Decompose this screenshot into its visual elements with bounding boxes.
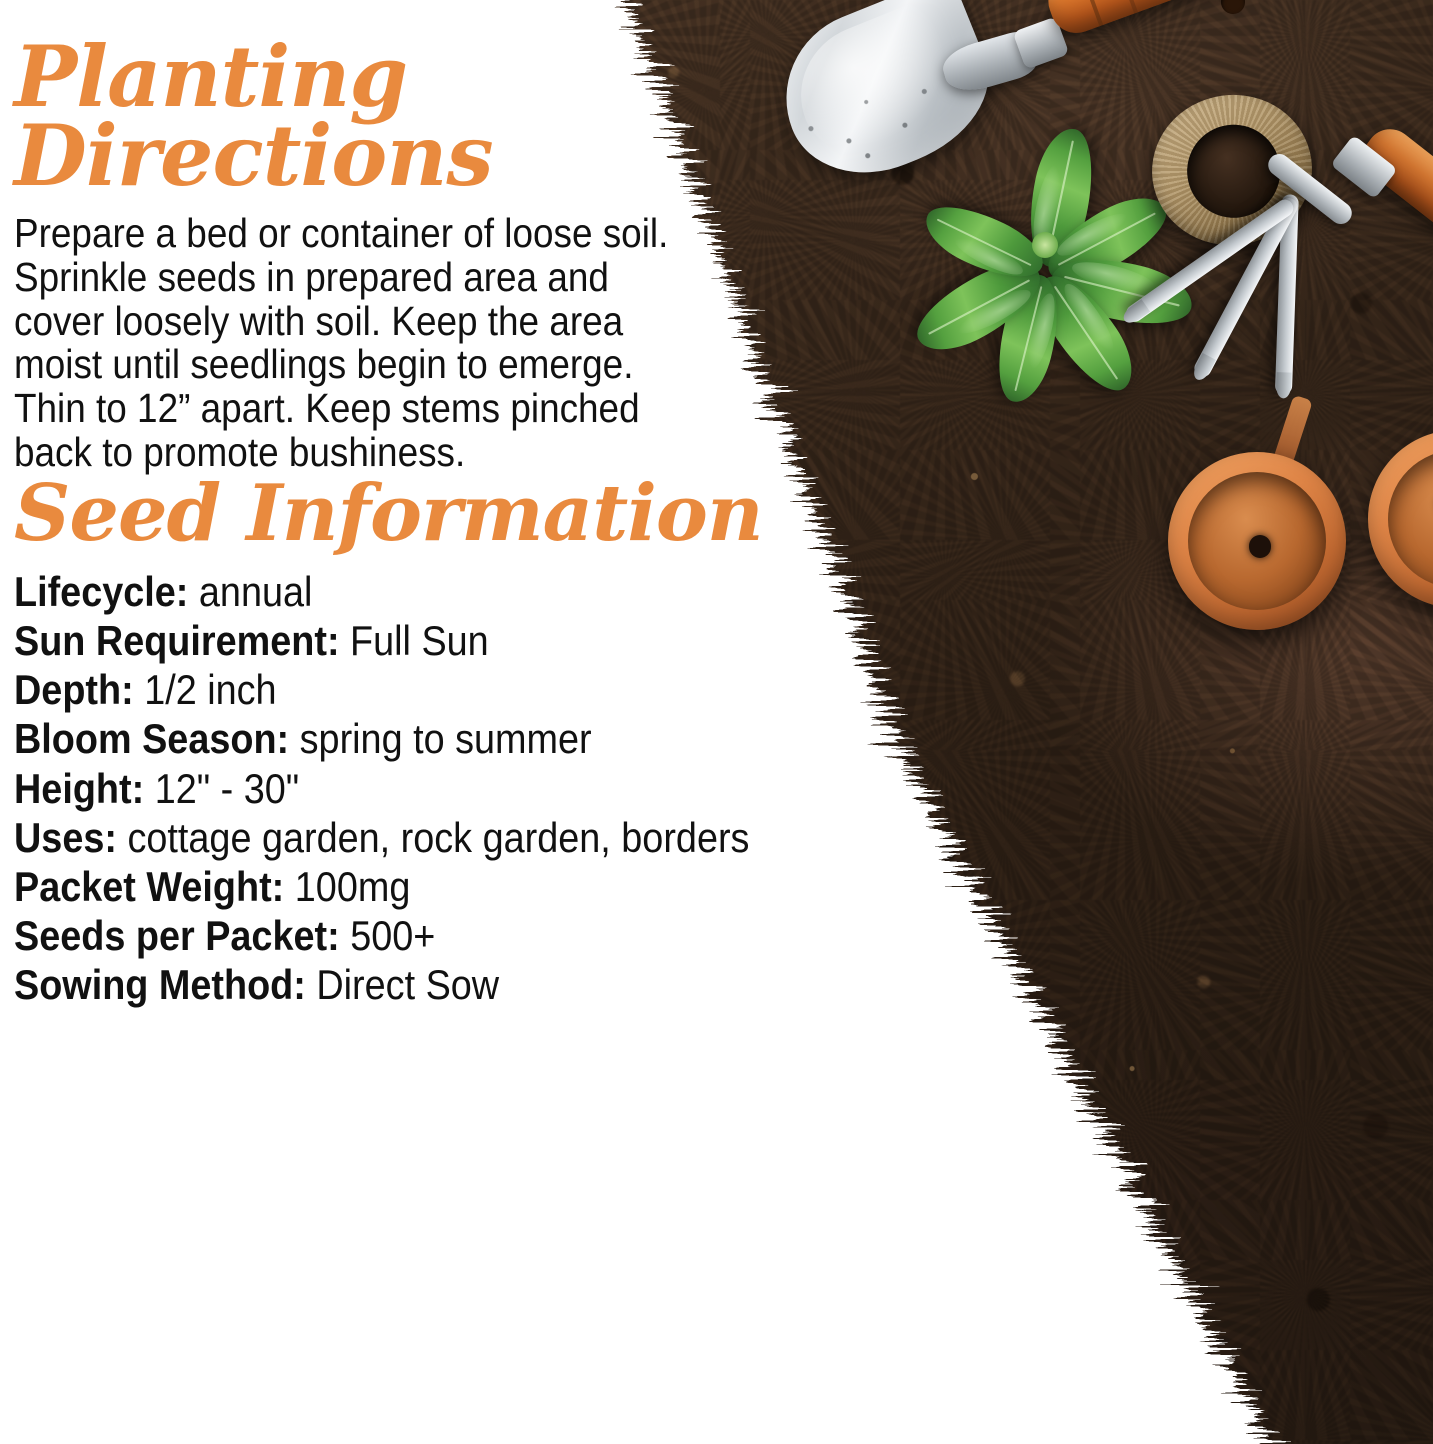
seed-info-label: Lifecycle: xyxy=(14,568,188,615)
green-seedling xyxy=(900,110,1190,380)
seed-info-label: Sowing Method: xyxy=(14,961,306,1008)
hand-cultivator xyxy=(1140,150,1433,480)
seed-info-row: Packet Weight: 100mg xyxy=(14,862,811,911)
leaf xyxy=(1036,184,1178,294)
seed-info-value: 12" - 30" xyxy=(155,765,300,812)
leaf xyxy=(1018,123,1103,272)
trowel-handle-hole xyxy=(1218,0,1249,17)
terracotta-pot-interior xyxy=(1188,472,1327,611)
seed-info-label: Height: xyxy=(14,765,144,812)
planting-directions-heading: Planting Directions xyxy=(14,38,574,196)
seed-info-value: 500+ xyxy=(350,912,435,959)
seed-info-row: Bloom Season: spring to summer xyxy=(14,714,811,763)
cultivator-tine xyxy=(1275,194,1299,394)
seed-info-label: Bloom Season: xyxy=(14,715,289,762)
seed-info-value: Full Sun xyxy=(350,617,489,664)
seed-info-row: Height: 12" - 30" xyxy=(14,764,811,813)
seedling-crown xyxy=(1032,232,1058,258)
peat-pot xyxy=(1142,85,1321,256)
seed-info-label: Depth: xyxy=(14,666,134,713)
seed-info-label: Packet Weight: xyxy=(14,863,284,910)
peat-pot-opening xyxy=(1181,119,1286,224)
trowel-wooden-handle xyxy=(1041,0,1277,40)
seed-info-value: 100mg xyxy=(295,863,411,910)
seed-info-row: Depth: 1/2 inch xyxy=(14,665,811,714)
seed-info-row: Uses: cottage garden, rock garden, borde… xyxy=(14,813,811,862)
leaf xyxy=(917,192,1052,293)
cultivator-ferrule xyxy=(1330,135,1398,199)
seed-information-heading: Seed Information xyxy=(14,475,900,553)
leaf xyxy=(1026,262,1147,404)
seed-info-value: 1/2 inch xyxy=(144,666,276,713)
planting-directions-body: Prepare a bed or container of loose soil… xyxy=(14,212,671,475)
seed-info-value: Direct Sow xyxy=(316,961,499,1008)
terracotta-pot-interior xyxy=(1388,450,1433,589)
cultivator-shaft xyxy=(1264,150,1356,229)
leaf xyxy=(905,250,1053,364)
seed-info-value: annual xyxy=(199,568,313,615)
seed-information-list: Lifecycle: annual Sun Requirement: Full … xyxy=(14,567,900,1009)
seed-info-row: Sowing Method: Direct Sow xyxy=(14,960,811,1009)
text-column: Planting Directions Prepare a bed or con… xyxy=(0,0,900,1009)
seed-info-row: Sun Requirement: Full Sun xyxy=(14,616,811,665)
leaf xyxy=(1046,246,1198,337)
seed-info-label: Seeds per Packet: xyxy=(14,912,340,959)
trowel-ferrule xyxy=(1013,16,1070,69)
seed-info-value: spring to summer xyxy=(300,715,592,762)
cultivator-wooden-handle xyxy=(1354,120,1433,290)
peat-pot-rim xyxy=(1142,85,1321,256)
wooden-stick xyxy=(1271,395,1313,472)
seed-info-value: cottage garden, rock garden, borders xyxy=(127,814,749,861)
seed-info-row: Seeds per Packet: 500+ xyxy=(14,911,811,960)
cultivator-tine xyxy=(1123,196,1297,325)
seed-info-row: Lifecycle: annual xyxy=(14,567,811,616)
trowel-neck xyxy=(938,28,1039,98)
leaf xyxy=(987,269,1070,407)
terracotta-pot xyxy=(1368,430,1433,608)
seed-info-label: Uses: xyxy=(14,814,117,861)
seed-info-label: Sun Requirement: xyxy=(14,617,340,664)
cultivator-tine xyxy=(1191,195,1300,380)
terracotta-pot xyxy=(1168,452,1346,630)
